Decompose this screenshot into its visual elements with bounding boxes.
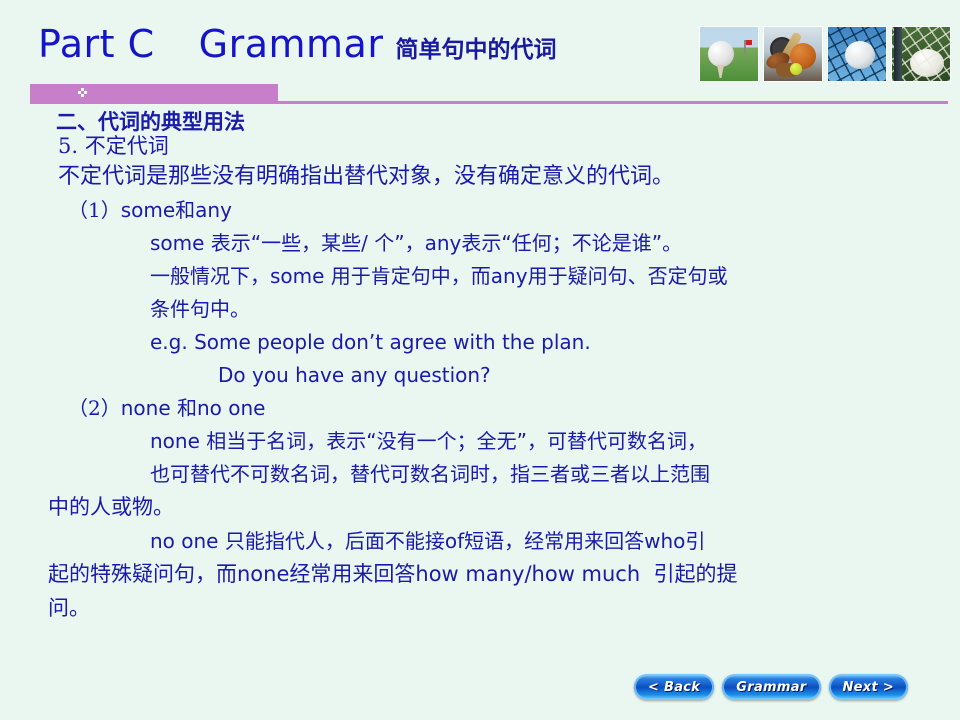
item1-example2: Do you have any question? <box>0 365 960 398</box>
slide-content: 二、代词的典型用法 5. 不定代词 不定代词是那些没有明确指出替代对象，没有确定… <box>0 106 960 632</box>
header-divider <box>0 84 960 108</box>
item1-title-line: （1）some和any <box>0 200 960 233</box>
item2-line1: none 相当于名词，表示“没有一个；全无”，可替代可数名词， <box>0 431 960 464</box>
item2-line4: no one 只能指代人，后面不能接of短语，经常用来回答who引 <box>0 531 960 564</box>
header-image-strip <box>699 26 951 82</box>
page-title: Part C Grammar 简单句中的代词 <box>38 22 556 66</box>
divider-line <box>30 101 948 104</box>
item2-line2: 也可替代不可数名词，替代可数名词时，指三者或三者以上范围 <box>0 464 960 497</box>
golf-tee-shape <box>717 65 724 78</box>
item1-example1: e.g. Some people don’t agree with the pl… <box>0 332 960 365</box>
back-button[interactable]: < Back <box>634 674 714 700</box>
title-part-c: Part C <box>38 22 155 66</box>
next-button-label: Next > <box>843 680 895 695</box>
volleyball-shape <box>845 41 875 69</box>
item2-line6: 问。 <box>0 598 960 632</box>
slide-header: Part C Grammar 简单句中的代词 <box>0 0 960 98</box>
navigation-buttons: < Back Grammar Next > <box>634 674 908 700</box>
grammar-button-label: Grammar <box>736 680 806 695</box>
definition-text: 不定代词是那些没有明确指出替代对象，没有确定意义的代词。 <box>0 166 960 200</box>
item1-line3: 条件句中。 <box>0 299 960 332</box>
volleyball-in-net-image <box>827 26 887 82</box>
diamond-bullet-icon <box>78 88 87 97</box>
goal-post-shape <box>894 27 902 81</box>
section-heading: 二、代词的典型用法 <box>0 106 960 136</box>
item2-line3: 中的人或物。 <box>0 497 960 531</box>
item2-title: none 和no one <box>121 396 266 420</box>
item2-title-line: （2）none 和no one <box>0 398 960 431</box>
tennis-ball-shape <box>790 63 802 75</box>
back-button-label: < Back <box>648 680 700 695</box>
item1-title: some和any <box>121 198 232 222</box>
item2-line5: 起的特殊疑问句，而none经常用来回答how many/how much 引起的… <box>0 564 960 598</box>
item1-line2: 一般情况下，some 用于肯定句中，而any用于疑问句、否定句或 <box>0 266 960 299</box>
golf-flag-shape <box>744 40 746 54</box>
grammar-button[interactable]: Grammar <box>722 674 820 700</box>
item1-marker: （1） <box>68 198 121 222</box>
title-subtitle-chinese: 简单句中的代词 <box>395 30 556 64</box>
next-button[interactable]: Next > <box>829 674 909 700</box>
title-grammar: Grammar <box>199 22 384 66</box>
accent-bar <box>30 84 278 101</box>
ball-in-goal-net-image <box>891 26 951 82</box>
item1-line1: some 表示“一些，某些/ 个”，any表示“任何；不论是谁”。 <box>0 233 960 266</box>
subsection-number: 5. 不定代词 <box>0 136 960 166</box>
item2-marker: （2） <box>68 396 121 420</box>
golf-ball-on-tee-image <box>699 26 759 82</box>
golf-ball-shape <box>708 41 734 67</box>
sports-equipment-image <box>763 26 823 82</box>
